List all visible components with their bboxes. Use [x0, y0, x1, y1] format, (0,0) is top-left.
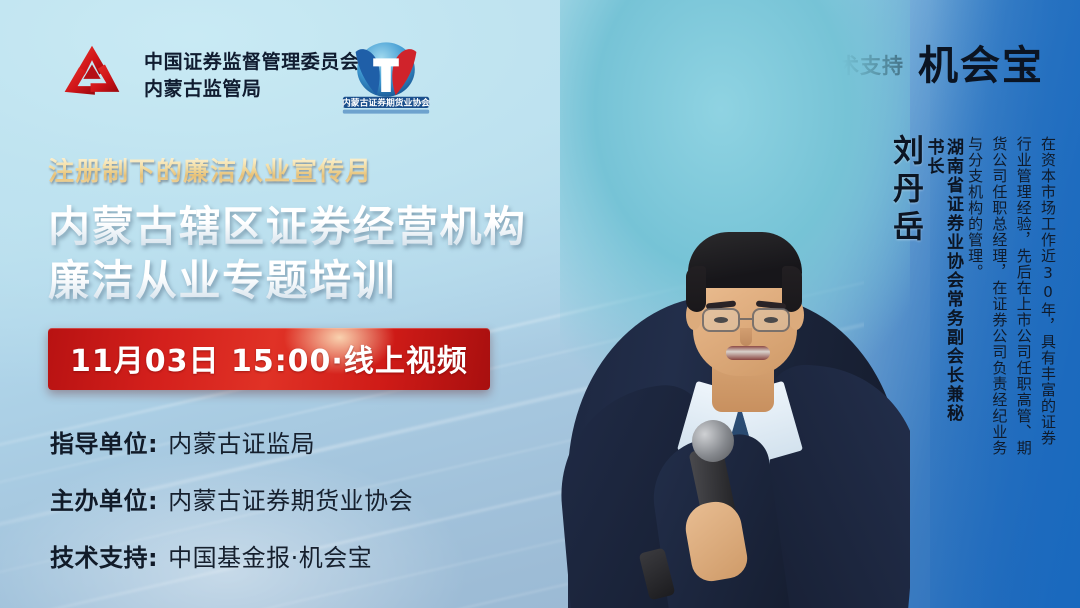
speaker-biography: 在资本市场工作近30年，具有丰富的证券行业管理经验，先后在上市公司任职高管、期货… — [963, 136, 1060, 456]
csrc-name-text: 中国证券监督管理委员会 内蒙古监管局 — [144, 49, 360, 103]
csrc-name-line1: 中国证券监督管理委员会 — [144, 49, 360, 76]
speaker-name: 刘丹岳 — [883, 134, 928, 260]
speaker-eyeglass-lens-right — [752, 308, 790, 332]
poster-subtitle: 注册制下的廉洁从业宣传月 — [48, 158, 568, 187]
poster-title-line2: 廉洁从业专题培训 — [48, 257, 568, 306]
speaker-photo — [560, 0, 910, 608]
svg-text:内蒙古证券期货业协会: 内蒙古证券期货业协会 — [342, 97, 430, 109]
poster-root: 中国证券监督管理委员会 内蒙古监管局 内蒙古证券期货业协会 — [0, 0, 1080, 608]
credit-value: 内蒙古证券期货业协会 — [168, 481, 413, 516]
title-block: 注册制下的廉洁从业宣传月 内蒙古辖区证券经营机构 廉洁从业专题培训 11月03日… — [48, 158, 568, 395]
credit-label: 指导单位: — [50, 424, 158, 459]
credit-label: 主办单位: — [50, 481, 158, 516]
credit-value: 内蒙古证监局 — [168, 424, 315, 459]
poster-title-line1: 内蒙古辖区证券经营机构 — [48, 203, 568, 252]
speaker-nose — [740, 328, 752, 346]
speaker-eyeglass-bridge — [740, 318, 752, 320]
csrc-logo-block: 中国证券监督管理委员会 内蒙古监管局 — [56, 40, 360, 112]
csrc-triangle-knot-logo-icon — [56, 40, 128, 112]
credit-row: 主办单位: 内蒙古证券期货业协会 — [50, 481, 413, 516]
csrc-name-line2: 内蒙古监管局 — [144, 76, 360, 103]
credit-value: 中国基金报·机会宝 — [168, 538, 372, 573]
speaker-mouth — [726, 346, 770, 360]
credit-label: 技术支持: — [50, 538, 158, 573]
inner-mongolia-securities-futures-association-logo-icon: 内蒙古证券期货业协会 — [338, 36, 434, 116]
speaker-job-title: 湖南省证券业协会常务副会长兼秘书长 — [923, 138, 962, 438]
credits-block: 指导单位: 内蒙古证监局 主办单位: 内蒙古证券期货业协会 技术支持: 中国基金… — [50, 424, 413, 595]
credit-row: 技术支持: 中国基金报·机会宝 — [50, 538, 413, 573]
speaker-eyeglass-lens-left — [702, 308, 740, 332]
date-time-text: 11月03日 15:00·线上视频 — [70, 344, 468, 379]
poster-title: 内蒙古辖区证券经营机构 廉洁从业专题培训 — [48, 203, 568, 306]
date-time-badge: 11月03日 15:00·线上视频 — [48, 328, 490, 390]
credit-row: 指导单位: 内蒙古证监局 — [50, 424, 413, 459]
sponsor-brand-name: 机会宝 — [918, 46, 1044, 86]
speaker-hair-side-left — [686, 266, 706, 312]
header: 中国证券监督管理委员会 内蒙古监管局 内蒙古证券期货业协会 — [0, 0, 1080, 132]
